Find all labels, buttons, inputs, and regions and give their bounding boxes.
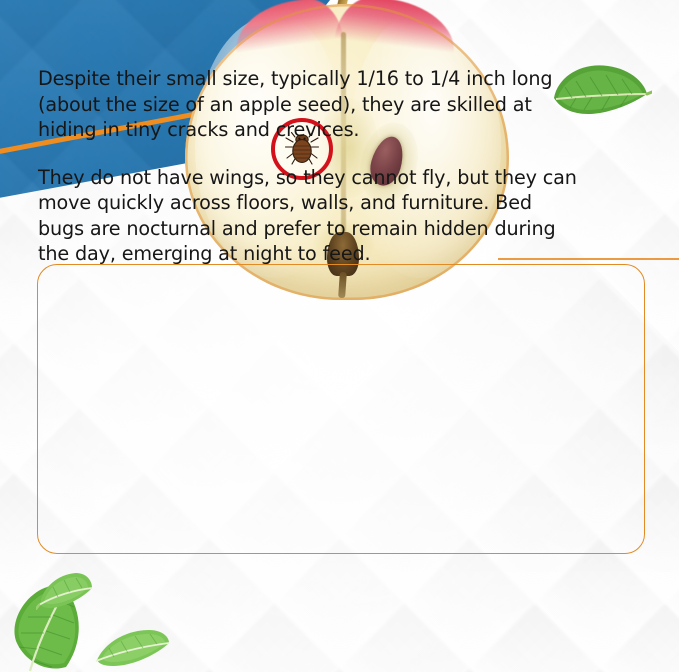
infographic-canvas: Despite their small size, typically 1/16…: [0, 0, 679, 672]
info-text-content: Despite their small size, typically 1/16…: [38, 66, 578, 267]
info-text-card: [37, 264, 645, 554]
paragraph-1: Despite their small size, typically 1/16…: [38, 66, 578, 143]
mint-leaf-bottom-center-icon: [93, 626, 171, 668]
paragraph-2: They do not have wings, so they cannot f…: [38, 165, 578, 267]
mint-leaf-bottom-left-small-icon: [36, 568, 94, 610]
